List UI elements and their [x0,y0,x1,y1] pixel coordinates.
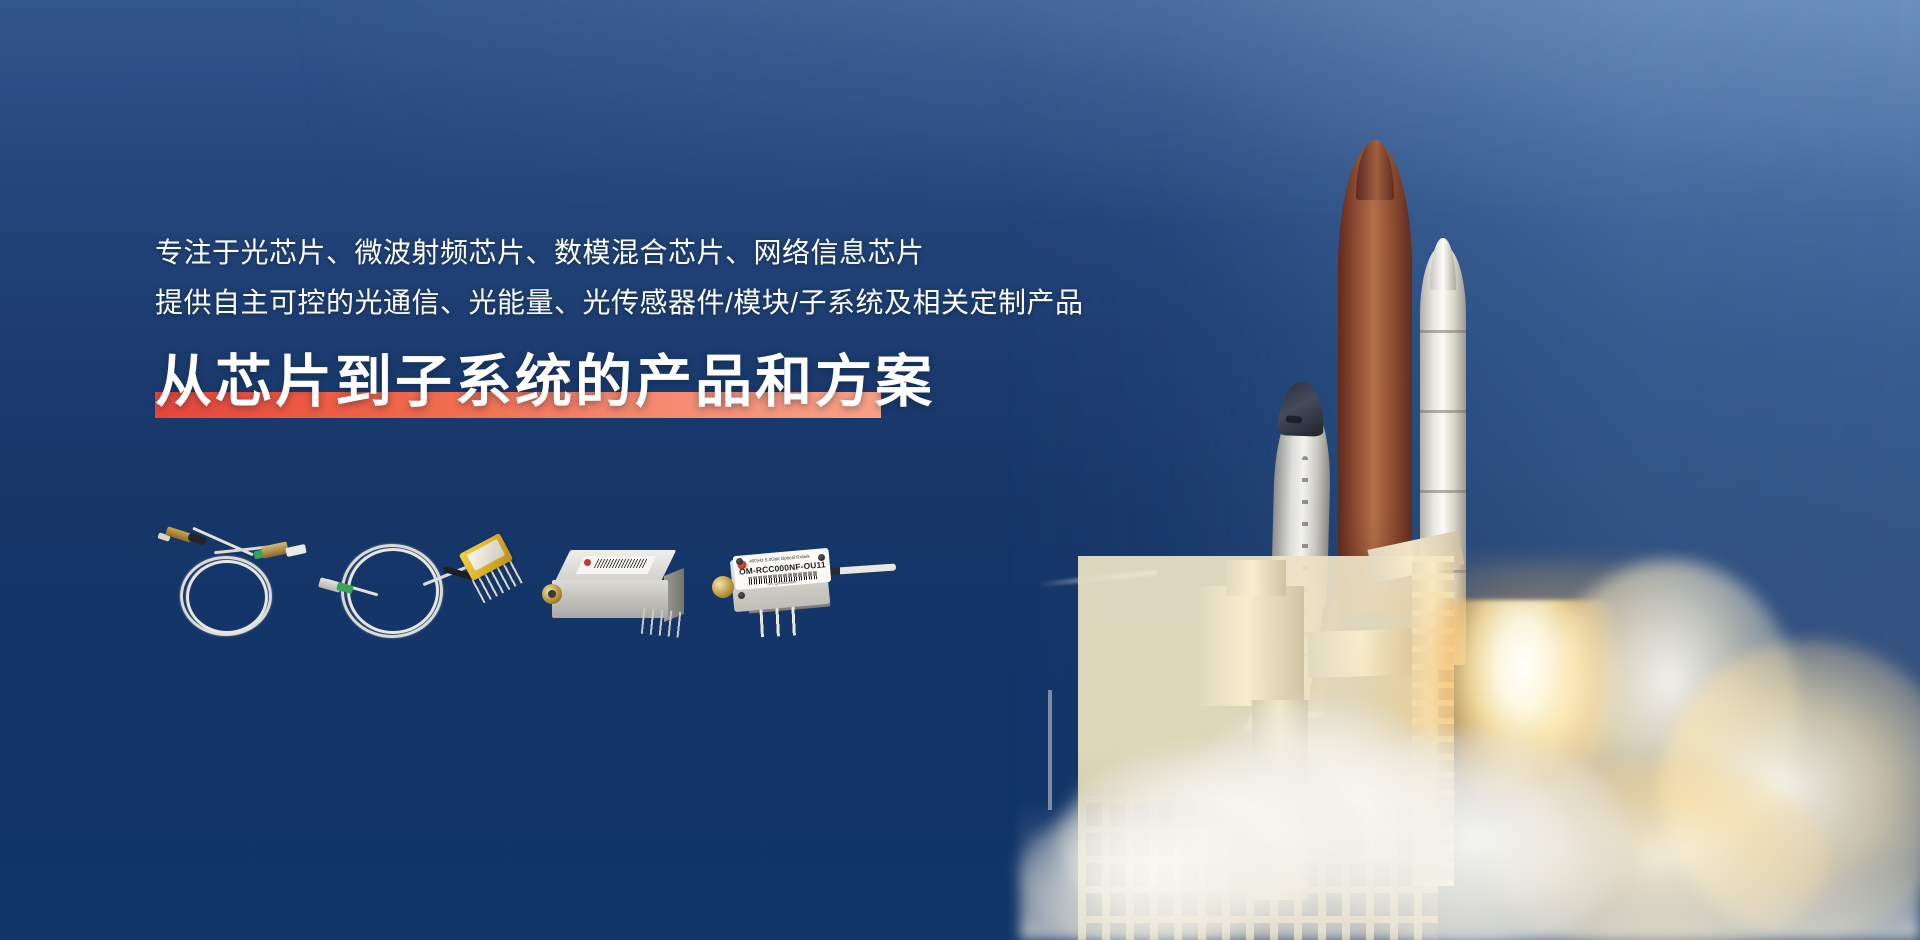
launch-tower-block [1226,560,1286,596]
booster-band [1420,330,1466,333]
hero-copy: 专注于光芯片、微波射频芯片、数模混合芯片、网络信息芯片 提供自主可控的光通信、光… [155,228,1155,418]
hero-headline-wrap: 从芯片到子系统的产品和方案 [155,346,935,418]
lightning-mast [1048,690,1052,810]
product-image-strip: 40GHz 5.4Gbit Optical Rxtwik OM-RCC000NF… [150,528,1040,668]
external-tank-nose [1356,140,1394,200]
space-shuttle-launch-scene [1020,0,1920,940]
brand-logo-icon [584,559,591,566]
module-screw [738,592,745,599]
module-screw [818,554,825,561]
hero-banner: 专注于光芯片、微波射频芯片、数模混合芯片、网络信息芯片 提供自主可控的光通信、光… [0,0,1920,940]
hero-subline-1: 专注于光芯片、微波射频芯片、数模混合芯片、网络信息芯片 [155,228,1155,278]
module-pins [641,608,687,638]
product-rf-metal-module [550,550,685,640]
product-optical-receiver-module: 40GHz 5.4Gbit Optical Rxtwik OM-RCC000NF… [710,540,890,650]
booster-band [1420,490,1466,493]
barcode-icon [594,559,648,568]
sma-connector-pin [548,590,556,598]
orbiter-nose [1277,381,1325,437]
solid-rocket-booster-nose [1430,238,1456,290]
hero-subline-2: 提供自主可控的光通信、光能量、光传感器件/模块/子系统及相关定制产品 [155,278,1155,328]
output-fiber-cable [824,563,896,575]
launch-tower-block [1200,586,1304,706]
module-screw [736,558,743,565]
fiber-connector-boot [285,544,306,557]
ground-haze [1020,800,1920,940]
product-butterfly-laser-module [325,534,535,654]
booster-band [1420,410,1466,413]
hero-headline: 从芯片到子系统的产品和方案 [155,346,935,418]
orbiter-cockpit-window [1286,415,1302,423]
product-fiber-pigtail-coil [158,528,318,638]
fiber-loop [186,560,268,634]
